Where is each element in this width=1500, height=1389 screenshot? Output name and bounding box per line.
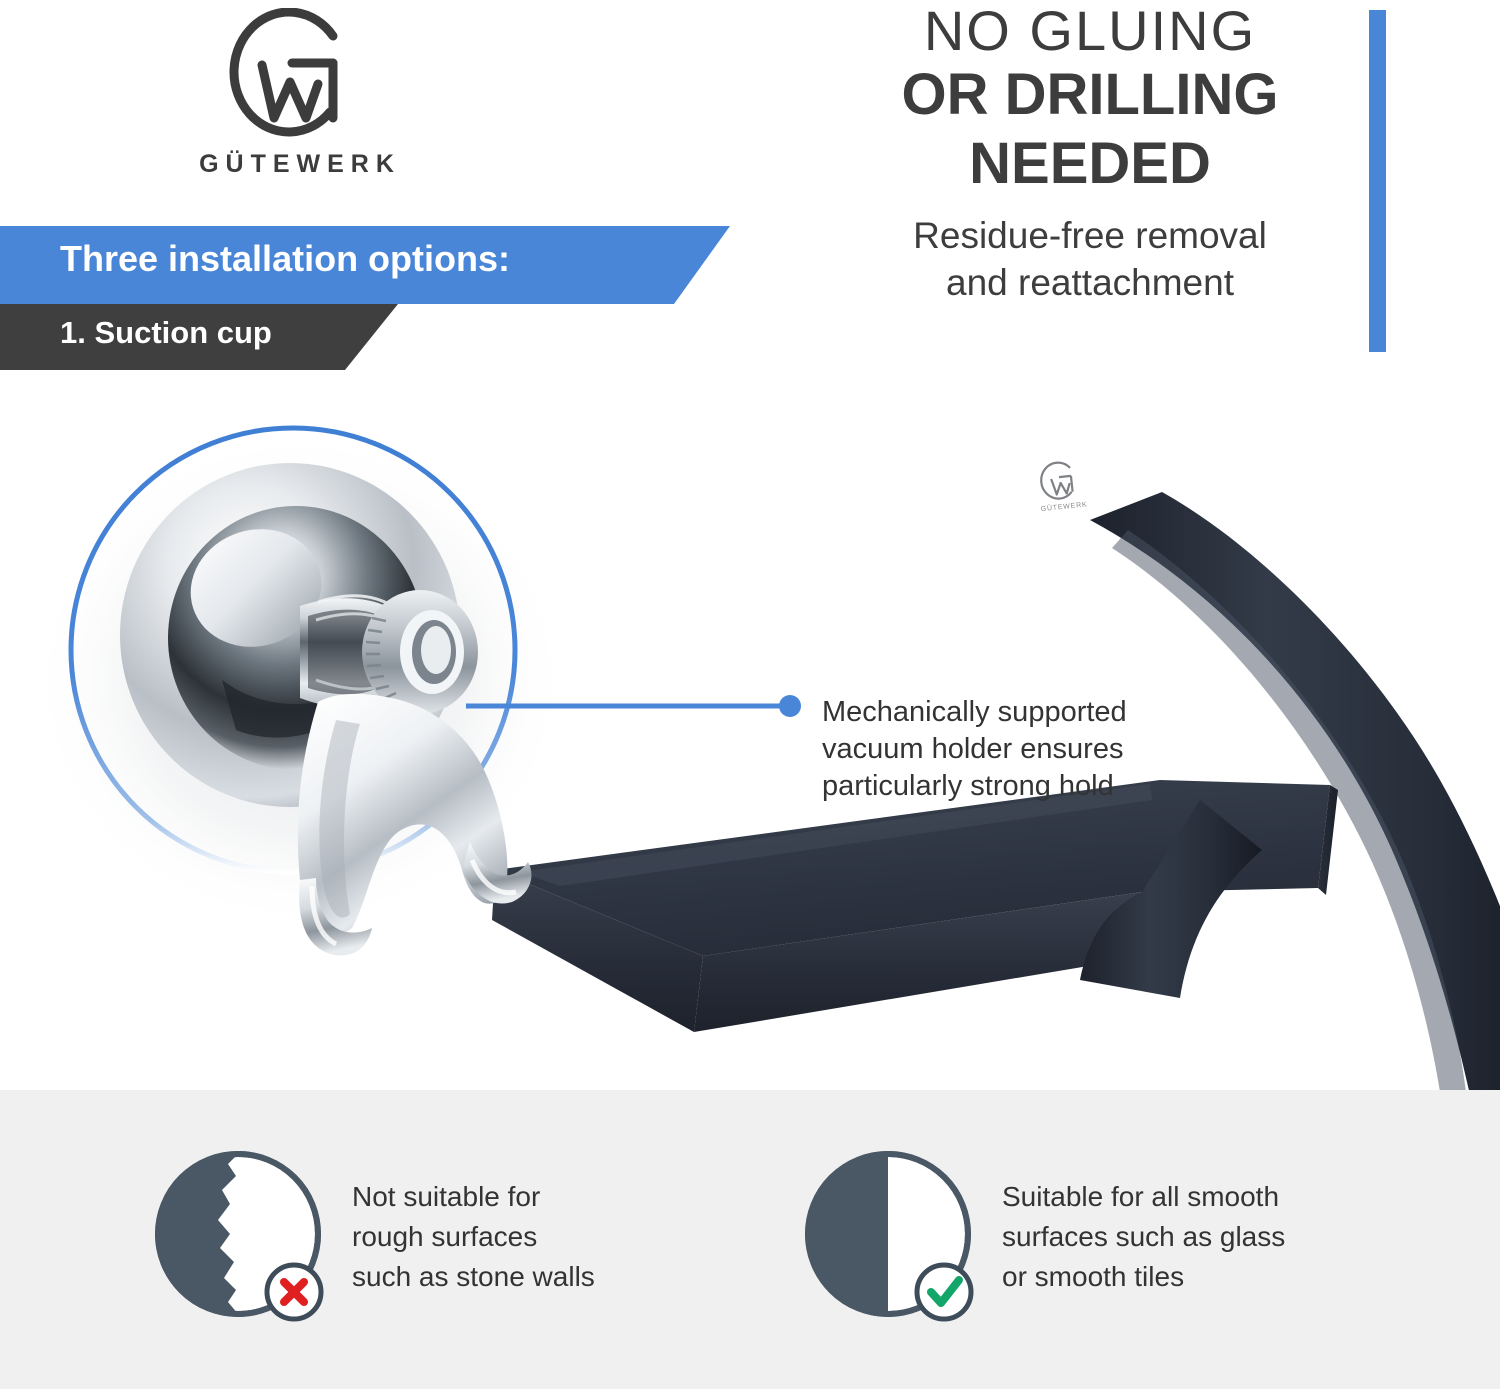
- headline-block: NO GLUING OR DRILLING NEEDED Residue-fre…: [820, 0, 1360, 306]
- callout-line-2: vacuum holder ensures: [822, 731, 1242, 768]
- installation-options-label: Three installation options:: [60, 238, 510, 280]
- rough-line-1: Not suitable for: [352, 1177, 595, 1217]
- headline-subline-1: Residue-free removal: [820, 212, 1360, 259]
- suction-lock-ring: [362, 590, 478, 714]
- smooth-line-3: or smooth tiles: [1002, 1257, 1285, 1297]
- smooth-line-2: surfaces such as glass: [1002, 1217, 1285, 1257]
- product-infographic: GÜTEWERK NO GLUING OR DRILLING NEEDED Re…: [0, 0, 1500, 1389]
- headline-line-2: OR DRILLING: [820, 62, 1360, 128]
- check-badge-icon: [917, 1265, 971, 1319]
- rough-surface-circle-icon: [150, 1142, 330, 1332]
- installation-options-ribbon: Three installation options:: [0, 226, 730, 304]
- callout-line-1: Mechanically supported: [822, 694, 1242, 731]
- svg-text:GÜTEWERK: GÜTEWERK: [1040, 500, 1087, 513]
- surface-suitability-footer: Not suitable for rough surfaces such as …: [0, 1090, 1500, 1389]
- surface-note-rough: Not suitable for rough surfaces such as …: [150, 1132, 720, 1342]
- smooth-surface-circle-icon: [800, 1142, 980, 1332]
- headline-line-3: NEEDED: [820, 128, 1360, 200]
- surface-note-smooth-caption: Suitable for all smooth surfaces such as…: [1002, 1177, 1285, 1297]
- surface-note-rough-caption: Not suitable for rough surfaces such as …: [352, 1177, 595, 1297]
- rough-line-2: rough surfaces: [352, 1217, 595, 1257]
- brand-wordmark: GÜTEWERK: [150, 150, 450, 179]
- headline-line-1: NO GLUING: [820, 0, 1360, 62]
- brand-logo: GÜTEWERK: [150, 8, 450, 193]
- headline-subline-2: and reattachment: [820, 259, 1360, 306]
- product-photo-stage: GÜTEWERK: [0, 380, 1500, 1090]
- callout-line-3: particularly strong hold: [822, 768, 1242, 805]
- engraved-brand-mark: GÜTEWERK: [1036, 460, 1088, 513]
- installation-step-label: 1. Suction cup: [60, 315, 272, 351]
- gw-monogram-icon: [200, 8, 360, 138]
- installation-step-ribbon: 1. Suction cup: [0, 304, 400, 370]
- surface-note-smooth: Suitable for all smooth surfaces such as…: [800, 1132, 1400, 1342]
- smooth-line-1: Suitable for all smooth: [1002, 1177, 1285, 1217]
- header-accent-bar: [1369, 10, 1386, 352]
- rough-line-3: such as stone walls: [352, 1257, 595, 1297]
- vacuum-holder-callout-text: Mechanically supported vacuum holder ens…: [822, 694, 1242, 805]
